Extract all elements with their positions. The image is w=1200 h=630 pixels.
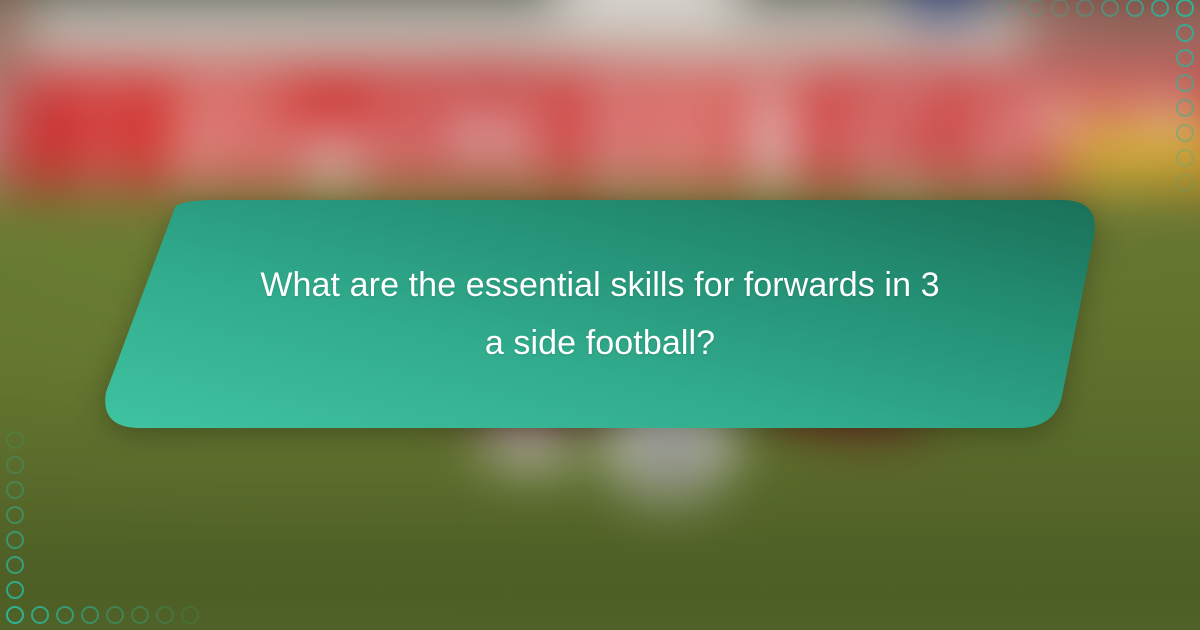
question-card: What are the essential skills for forwar… [100, 200, 1100, 428]
page-root: What are the essential skills for forwar… [0, 0, 1200, 630]
question-card-text: What are the essential skills for forwar… [100, 200, 1100, 428]
question-line-2: a side football? [485, 314, 715, 372]
question-line-1: What are the essential skills for forwar… [260, 256, 939, 314]
